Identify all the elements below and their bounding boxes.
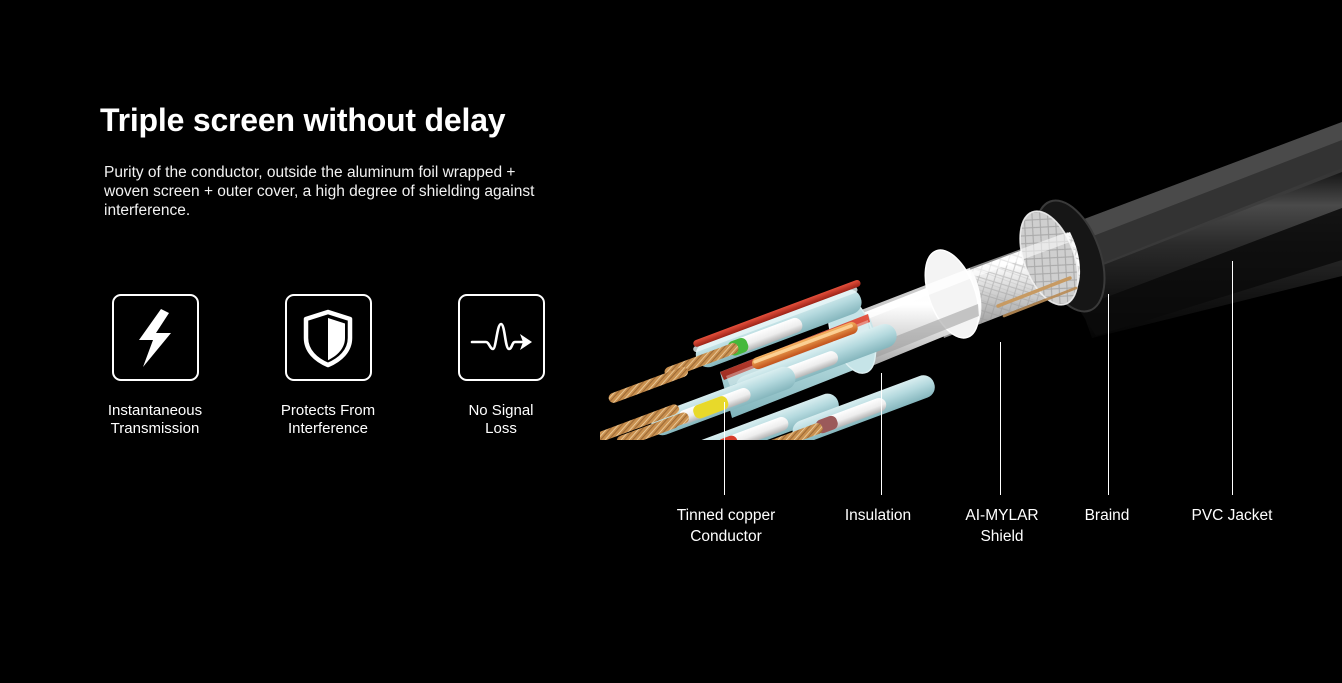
leader-line-tinned-copper-conductor <box>724 402 725 495</box>
waveform-arrow-icon <box>458 294 545 381</box>
callout-label-mylar-shield: AI-MYLAR Shield <box>965 505 1038 547</box>
feature-item-instantaneous-transmission: Instantaneous Transmission <box>95 294 215 438</box>
leader-line-mylar-shield <box>1000 342 1001 495</box>
callout-label-pvc-jacket: PVC Jacket <box>1192 505 1273 526</box>
feature-label: Instantaneous Transmission <box>95 402 215 438</box>
leader-line-pvc-jacket <box>1232 261 1233 495</box>
feature-list: Instantaneous Transmission Protects From… <box>95 294 575 444</box>
shield-icon <box>285 294 372 381</box>
leader-line-braid <box>1108 294 1109 495</box>
leader-line-insulation <box>881 373 882 495</box>
cable-cutaway-illustration <box>600 80 1342 440</box>
page-title: Triple screen without delay <box>100 102 505 139</box>
feature-label: No Signal Loss <box>441 402 561 438</box>
cable-layer-pvc-jacket <box>1022 122 1342 338</box>
feature-item-no-signal-loss: No Signal Loss <box>441 294 561 438</box>
feature-item-protects-from-interference: Protects From Interference <box>268 294 388 438</box>
page-background: Triple screen without delay Purity of th… <box>0 0 1342 683</box>
callout-label-braid: Braind <box>1085 505 1130 526</box>
callout-label-insulation: Insulation <box>845 505 911 526</box>
callout-label-tinned-copper-conductor: Tinned copper Conductor <box>677 505 776 547</box>
feature-label: Protects From Interference <box>268 402 388 438</box>
page-description: Purity of the conductor, outside the alu… <box>104 163 556 220</box>
lightning-bolt-icon <box>112 294 199 381</box>
